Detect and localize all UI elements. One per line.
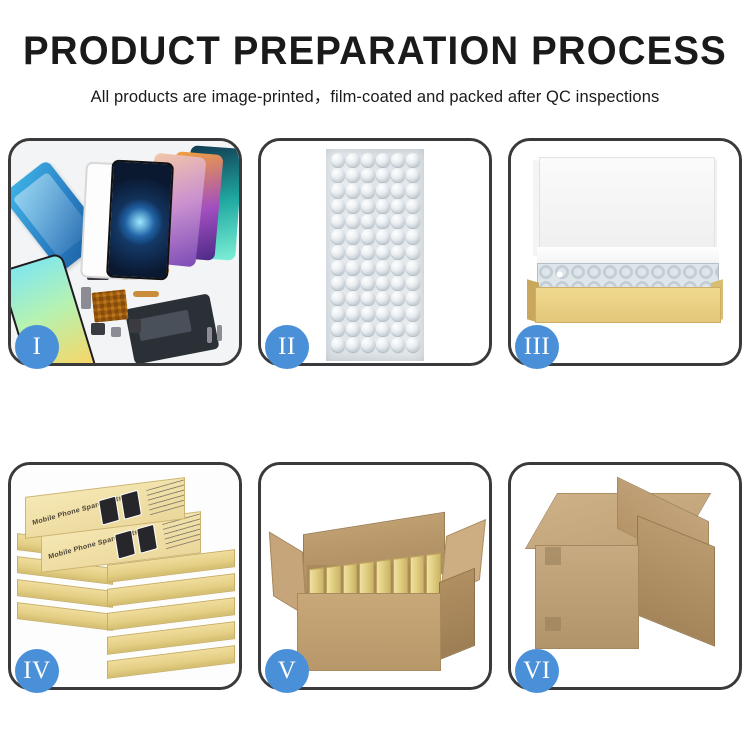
process-step-panel-3: III [508,138,742,366]
process-step-panel-4: Mobile Phone Spare Parts Mobile Phone Sp… [8,462,242,690]
step-badge-5: V [265,649,309,693]
bubble [361,260,375,274]
spare-part-ribbon [133,291,159,297]
bubble [376,306,390,320]
box-print-screen-4 [120,490,142,520]
bubble [346,291,360,305]
bubble [376,199,390,213]
bubble [391,337,405,351]
bubble [376,153,390,167]
step-badge-1: I [15,325,59,369]
bubble [361,199,375,213]
bubble [406,306,420,320]
bubble [346,229,360,243]
bubble [361,183,375,197]
stacked-box-l4 [17,602,113,631]
bubble [391,322,405,336]
bubble [406,153,420,167]
bubble [346,183,360,197]
bubble [361,168,375,182]
bubble [376,183,390,197]
process-step-panel-5: V [258,462,492,690]
bubble [331,245,345,259]
bubble [391,229,405,243]
bubble [406,291,420,305]
page-title: PRODUCT PREPARATION PROCESS [15,30,735,72]
connector-chip [92,289,129,322]
bubble [376,214,390,228]
bubble [346,322,360,336]
bubble [331,306,345,320]
process-step-panel-2: II [258,138,492,366]
bubble [406,168,420,182]
process-step-panel-6: VI [508,462,742,690]
bubble [331,229,345,243]
bubble [346,214,360,228]
bubble [361,306,375,320]
bubble-wrap-pouch [326,149,424,361]
bubble [376,337,390,351]
page-subtitle: All products are image-printed，film-coat… [0,83,750,107]
bubble [406,260,420,274]
bubble [331,291,345,305]
spare-part-module [129,319,141,333]
bubble [406,183,420,197]
bubble [406,199,420,213]
bubble [331,276,345,290]
bubble [361,245,375,259]
bubble-grid [330,152,420,358]
bubble [406,229,420,243]
step-badge-3: III [515,325,559,369]
bubble [361,214,375,228]
bubble [391,260,405,274]
box-print-screen-1 [114,529,136,559]
bubble [376,229,390,243]
bubble [376,322,390,336]
carton-tape-top [545,547,561,565]
phone-dark-screen [106,159,174,280]
bubble [391,168,405,182]
process-step-panel-1: I [8,138,242,366]
bubble [331,337,345,351]
kraft-box-front [535,287,721,323]
carton-side-panel [439,568,475,661]
bubble [331,199,345,213]
spare-part-screw [207,327,212,343]
bubble [391,245,405,259]
box-print-screen-2 [136,524,158,554]
bubble [361,291,375,305]
carton-front-panel [297,593,441,671]
bubble [391,291,405,305]
bubble [346,337,360,351]
bubble [391,183,405,197]
bubble [361,229,375,243]
bubble [406,276,420,290]
bubble [346,245,360,259]
bubble [361,337,375,351]
bubble [406,337,420,351]
bubble [391,153,405,167]
bubble [391,276,405,290]
bubble [376,245,390,259]
step-badge-2: II [265,325,309,369]
bubble [376,260,390,274]
bubble [376,276,390,290]
bubble [406,214,420,228]
bubble [391,199,405,213]
box-print-screen-3 [98,495,120,525]
bubble [406,322,420,336]
header: PRODUCT PREPARATION PROCESS All products… [0,0,750,107]
bubble [346,168,360,182]
bubble [331,260,345,274]
bubble [391,214,405,228]
bubble [331,214,345,228]
bubble [346,260,360,274]
bubble [331,153,345,167]
bubble [346,276,360,290]
bubble [361,276,375,290]
bubble [331,168,345,182]
bubble [406,245,420,259]
bubble [376,291,390,305]
bubble [361,322,375,336]
spare-part-button [81,287,91,309]
bubble [346,306,360,320]
bubble [376,168,390,182]
bubble [346,153,360,167]
carton-tape-bottom [545,617,561,631]
bubble [331,183,345,197]
step-badge-4: IV [15,649,59,693]
bubble [361,153,375,167]
bubble [331,322,345,336]
spare-part-speaker [91,323,105,335]
spare-part-screw-2 [217,325,222,341]
step-badge-6: VI [515,649,559,693]
box-print-text-lines-2 [146,480,185,516]
process-step-grid: I II III [8,138,742,690]
bubble [346,199,360,213]
bubble [391,306,405,320]
spare-part-sensor [111,327,121,337]
